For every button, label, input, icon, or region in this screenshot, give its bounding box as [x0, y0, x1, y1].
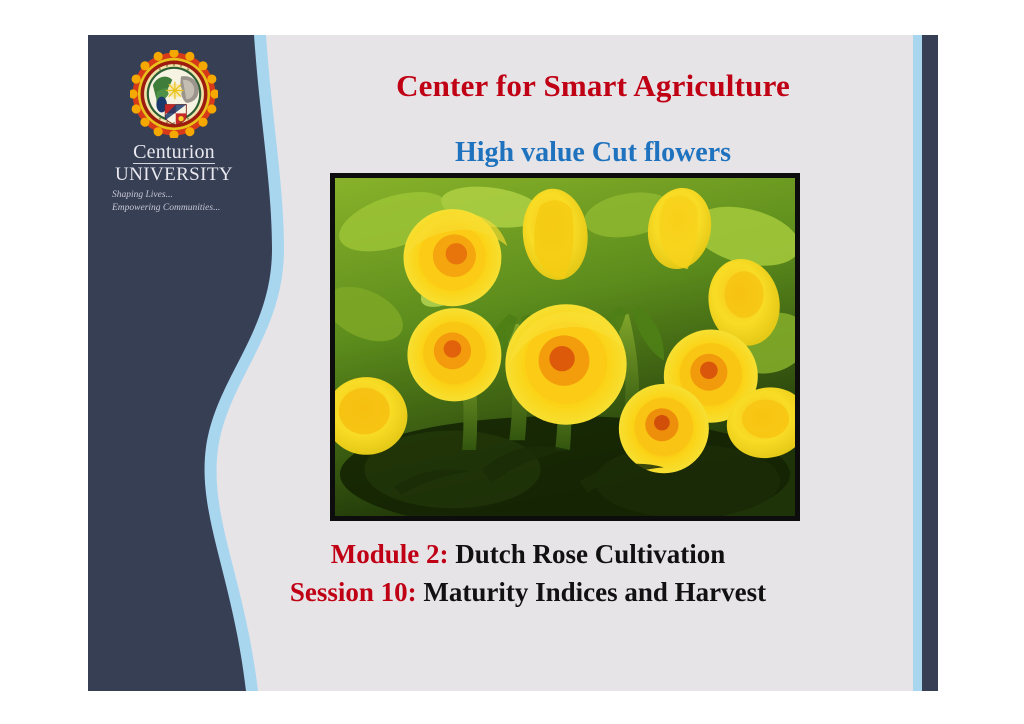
caption-line-session: Session 10: Maturity Indices and Harvest [148, 573, 908, 611]
module-value: Dutch Rose Cultivation [455, 539, 725, 569]
right-accent-stripe [913, 35, 922, 691]
yellow-roses-bouquet-photo [330, 173, 800, 521]
right-navy-stripe [922, 35, 938, 691]
logo-name-line-2: UNIVERSITY [104, 165, 244, 184]
presentation-slide: Centurion UNIVERSITY Shaping Lives... Em… [88, 35, 938, 691]
university-logo-block: Centurion UNIVERSITY Shaping Lives... Em… [104, 50, 244, 215]
session-label: Session 10: [290, 577, 417, 607]
roses-image-content [335, 178, 795, 516]
slide-title: Center for Smart Agriculture [288, 68, 898, 104]
session-value: Maturity Indices and Harvest [423, 577, 766, 607]
logo-name-line-1: Centurion [133, 142, 215, 164]
slide-caption: Module 2: Dutch Rose Cultivation Session… [148, 535, 908, 612]
module-label: Module 2: [331, 539, 449, 569]
logo-tagline-line-1: Shaping Lives... [104, 189, 244, 202]
caption-line-module: Module 2: Dutch Rose Cultivation [148, 535, 908, 573]
centurion-university-emblem-icon [130, 50, 218, 138]
slide-subtitle: High value Cut flowers [288, 137, 898, 169]
logo-tagline-line-2: Empowering Communities... [104, 202, 244, 215]
